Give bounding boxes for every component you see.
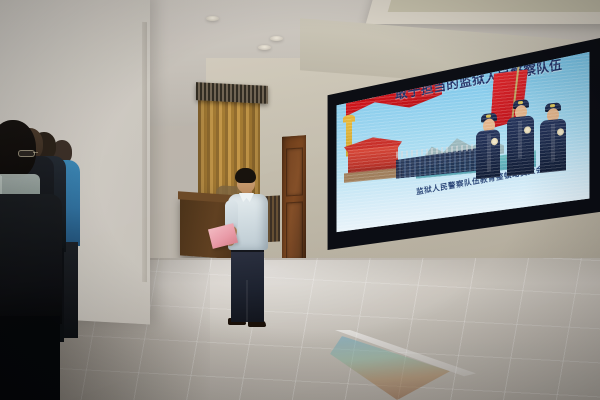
officer-uniform	[476, 129, 500, 179]
downlight-icon	[270, 36, 283, 41]
door-panel	[286, 147, 303, 196]
police-officer	[506, 98, 538, 176]
speaker-person	[222, 168, 274, 340]
eyeglasses-icon	[18, 150, 35, 157]
door-panel	[286, 201, 303, 260]
door-right[interactable]	[282, 135, 306, 271]
hammer-sickle-icon: ☭	[356, 69, 373, 86]
curtain-valance	[196, 82, 268, 104]
officer-uniform	[507, 115, 534, 176]
police-officer	[538, 101, 570, 173]
speaker-leg-split	[246, 280, 248, 322]
downlight-icon	[258, 45, 271, 50]
downlight-icon	[206, 16, 219, 21]
ceiling-recess-inner	[388, 0, 600, 12]
speaker-hair	[235, 168, 256, 183]
police-officer	[474, 112, 504, 179]
led-screen[interactable]: ✣ ✥ ☭ 打造一支对党忠诚个人干净	[322, 38, 600, 250]
attendee-head	[0, 120, 36, 178]
photo-scene: ✣ ✥ ☭ 打造一支对党忠诚个人干净	[0, 0, 600, 400]
partition-wall-edge	[142, 22, 147, 282]
officer-uniform	[540, 118, 566, 173]
attendee-legs	[0, 316, 60, 400]
attendee-front-glasses	[0, 120, 62, 400]
attendee-body	[0, 194, 62, 324]
